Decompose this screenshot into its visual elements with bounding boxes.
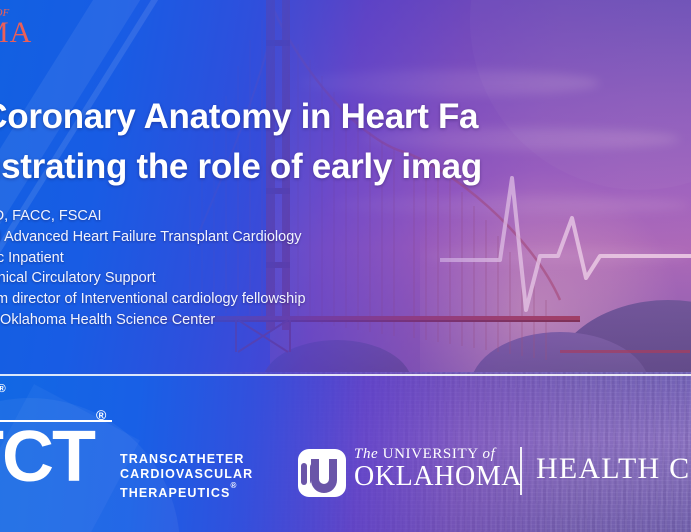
ou-of: of bbox=[482, 446, 495, 462]
ou-monogram-icon bbox=[296, 445, 348, 501]
tct-registered-icon: ® bbox=[96, 407, 106, 423]
university-wordmark-top: VERSITY of AHOMA bbox=[0, 4, 144, 48]
author-role-3: of Mechanical Circulatory Support bbox=[0, 268, 691, 289]
ou-university: UNIVERSITY bbox=[383, 446, 478, 462]
tct-mark-text: TCT bbox=[0, 417, 94, 497]
footer-divider bbox=[0, 374, 691, 376]
wordmark-top-line2: AHOMA bbox=[0, 18, 144, 48]
crf-wordmark: RF® bbox=[0, 390, 290, 416]
presentation-slide: VERSITY of AHOMA plex Coronary Anatomy i… bbox=[0, 0, 691, 532]
tct-word-3: THERAPEUTICS bbox=[120, 486, 230, 500]
author-block: ahuja, MD, FACC, FSCAI tional and Advanc… bbox=[0, 206, 691, 331]
ou-oklahoma: OKLAHOMA bbox=[354, 463, 522, 491]
tct-word-2: CARDIOVASCULAR bbox=[120, 467, 253, 482]
title-line-2: se illustrating the role of early imag bbox=[0, 142, 691, 192]
crf-registered-icon: ® bbox=[0, 383, 6, 395]
tct-word-1: TRANSCATHETER bbox=[120, 452, 253, 467]
slide-title: plex Coronary Anatomy in Heart Fa se ill… bbox=[0, 92, 691, 191]
author-role-1: tional and Advanced Heart Failure Transp… bbox=[0, 227, 691, 248]
author-affiliation: versity of Oklahoma Health Science Cente… bbox=[0, 310, 691, 331]
author-name: ahuja, MD, FACC, FSCAI bbox=[0, 206, 691, 227]
author-role-4: te program director of Interventional ca… bbox=[0, 289, 691, 310]
ou-logo-divider bbox=[520, 447, 522, 495]
tct-words-registered-icon: ® bbox=[230, 481, 237, 490]
ou-health-text: HEALTH C bbox=[536, 452, 690, 486]
title-line-1: plex Coronary Anatomy in Heart Fa bbox=[0, 97, 478, 136]
ou-wordmark: The UNIVERSITY of OKLAHOMA bbox=[354, 447, 522, 491]
tct-full-name: TRANSCATHETER CARDIOVASCULAR THERAPEUTIC… bbox=[120, 452, 253, 501]
author-role-2: of Cardiac Inpatient bbox=[0, 248, 691, 269]
tct-logo: RF® TCT® TRANSCATHETER CARDIOVASCULAR TH… bbox=[0, 390, 290, 490]
ou-the: The bbox=[354, 446, 378, 462]
